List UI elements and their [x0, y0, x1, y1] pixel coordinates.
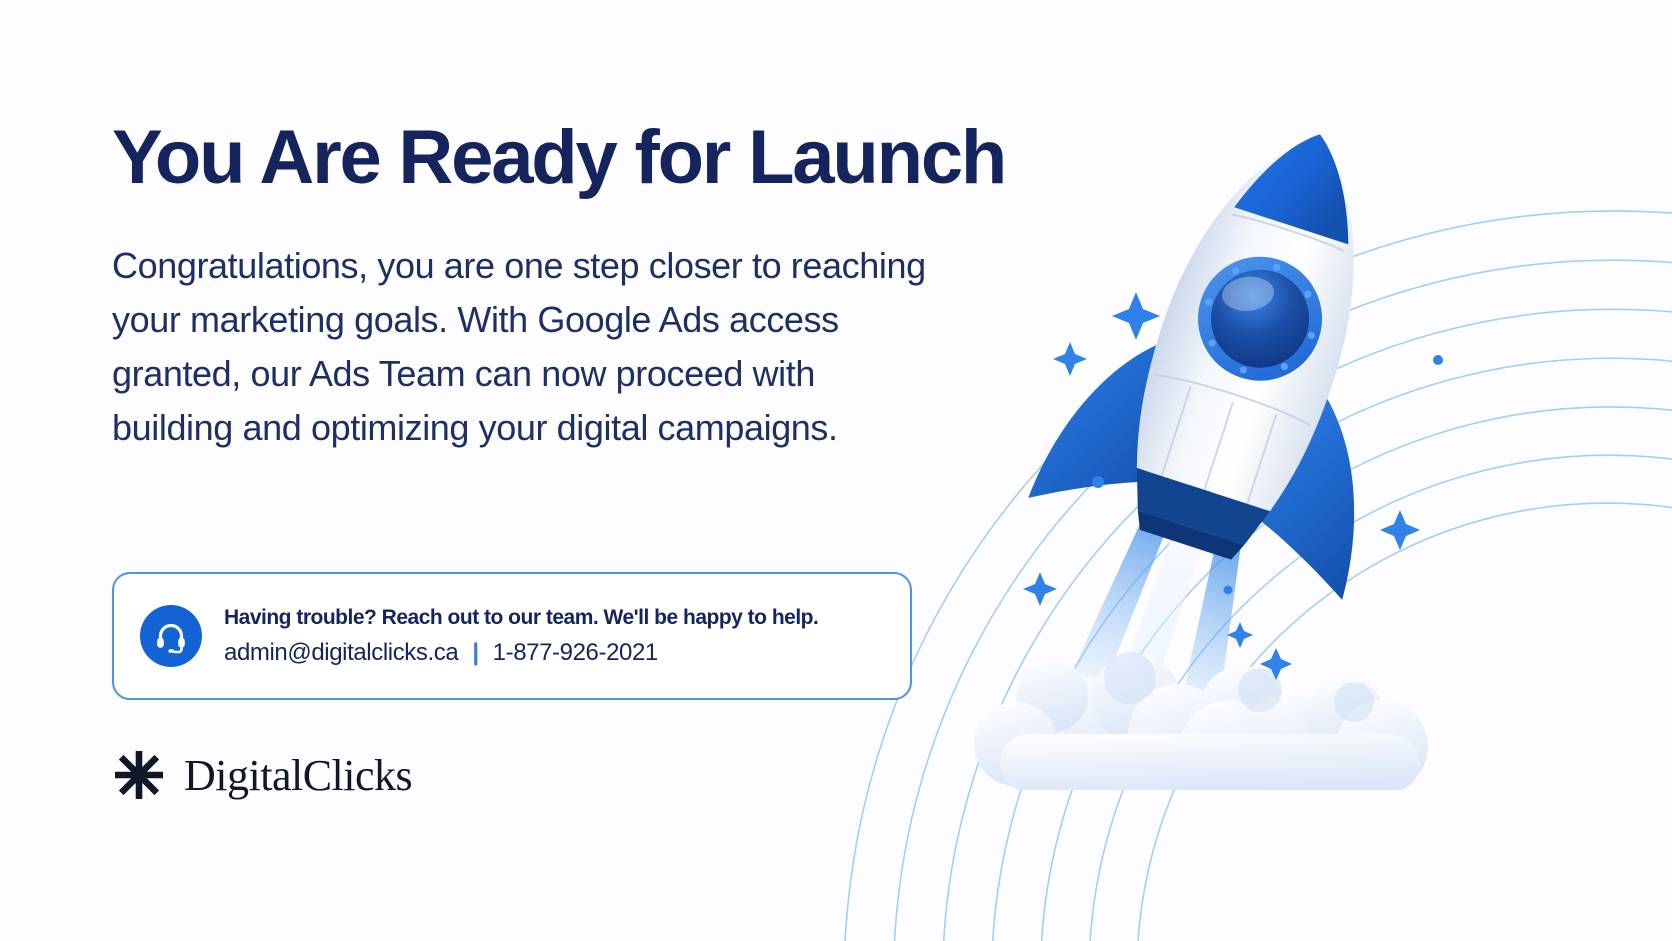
asterisk-starburst-icon [112, 748, 166, 802]
launch-confirmation-banner: You Are Ready for Launch Congratulations… [0, 0, 1672, 941]
support-phone-link[interactable]: 1-877-926-2021 [493, 639, 658, 667]
support-card: Having trouble? Reach out to our team. W… [112, 572, 912, 700]
rocket-launch-illustration [930, 30, 1550, 790]
headset-icon [140, 605, 202, 667]
support-contact-line: admin@digitalclicks.ca | 1-877-926-2021 [224, 639, 818, 667]
body-paragraph: Congratulations, you are one step closer… [112, 239, 942, 455]
logo-wordmark: DigitalClicks [184, 750, 412, 801]
contact-separator: | [472, 639, 478, 667]
brand-logo: DigitalClicks [112, 748, 412, 802]
support-email-link[interactable]: admin@digitalclicks.ca [224, 639, 458, 667]
page-title: You Are Ready for Launch [112, 118, 972, 199]
support-title: Having trouble? Reach out to our team. W… [224, 606, 818, 630]
support-text-block: Having trouble? Reach out to our team. W… [224, 606, 818, 667]
content-column: You Are Ready for Launch Congratulations… [112, 118, 972, 455]
